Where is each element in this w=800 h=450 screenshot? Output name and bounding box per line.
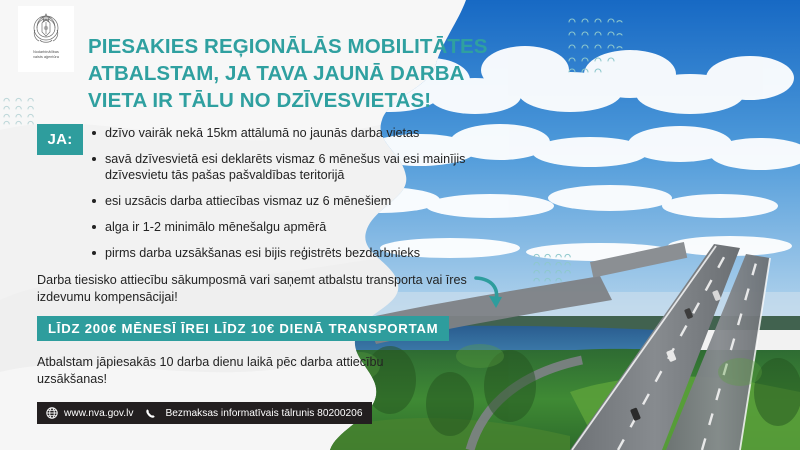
coat-of-arms-icon [29, 10, 63, 48]
poster-root: Nodarbinātības valsts aģentūra PIESAKIES… [0, 0, 800, 450]
nva-logo: Nodarbinātības valsts aģentūra [18, 6, 74, 72]
conditions-list: dzīvo vairāk nekā 15km attālumā no jaunā… [92, 125, 522, 270]
deadline-paragraph: Atbalstam jāpiesakās 10 darba dienu laik… [37, 354, 447, 387]
support-paragraph: Darba tiesisko attiecību sākumposmā vari… [37, 272, 467, 305]
list-item: esi uzsācis darba attiecības vismaz uz 6… [92, 193, 522, 210]
condition-badge: JA: [37, 124, 83, 155]
website-link[interactable]: www.nva.gov.lv [64, 408, 133, 419]
list-item: dzīvo vairāk nekā 15km attālumā no jaunā… [92, 125, 522, 142]
dot-grid-pattern-top-right [567, 16, 623, 74]
phone-text[interactable]: Bezmaksas informatīvais tālrunis 8020020… [165, 408, 362, 419]
globe-icon [46, 407, 58, 419]
contact-footer: www.nva.gov.lv Bezmaksas informatīvais t… [37, 402, 372, 424]
curved-arrow-down-icon [470, 272, 504, 314]
list-item: savā dzīvesvietā esi deklarēts vismaz 6 … [92, 151, 522, 184]
amount-banner: LĪDZ 200€ MĒNESĪ ĪREI LĪDZ 10€ DIENĀ TRA… [37, 316, 449, 341]
logo-caption-line2: valsts aģentūra [33, 55, 59, 60]
phone-icon [145, 408, 156, 419]
page-title: PIESAKIES REĢIONĀLĀS MOBILITĀTES ATBALST… [88, 33, 508, 114]
list-item: pirms darba uzsākšanas esi bijis reģistr… [92, 245, 522, 262]
dot-grid-pattern-middle [532, 252, 572, 286]
list-item: alga ir 1-2 minimālo mēnešalgu apmērā [92, 219, 522, 236]
